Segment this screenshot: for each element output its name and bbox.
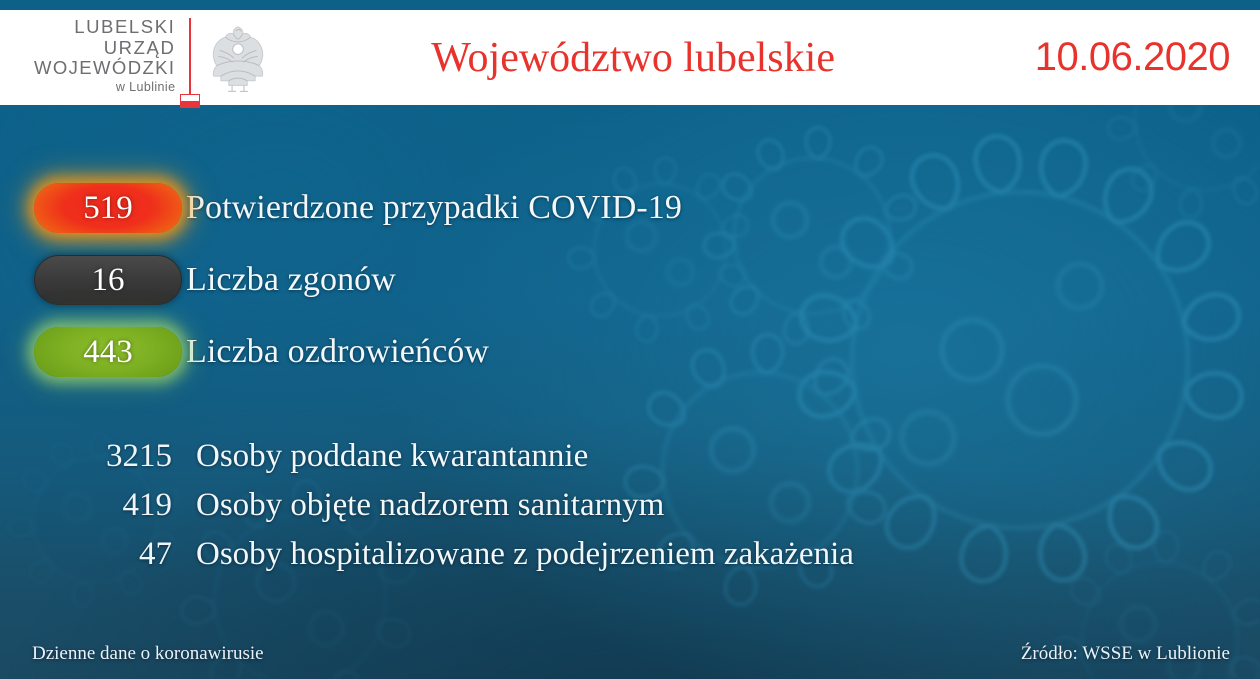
stat-row-recovered: 443 Liczba ozdrowieńców xyxy=(0,316,1260,388)
supervision-label: Osoby objęte nadzorem sanitarnym xyxy=(172,487,664,524)
logo-wordmark: LUBELSKI URZĄD WOJEWÓDZKI w Lublinie xyxy=(34,17,175,98)
substat-row-quarantine: 3215 Osoby poddane kwarantannie xyxy=(0,438,1260,487)
page-header: LUBELSKI URZĄD WOJEWÓDZKI w Lublinie xyxy=(0,10,1260,105)
footer-source: Źródło: WSSE w Lublionie xyxy=(1021,643,1230,665)
badge-container: 519 xyxy=(0,183,186,233)
supervision-value: 419 xyxy=(0,487,172,524)
footer-caption: Dzienne dane o koronawirusie xyxy=(32,643,264,665)
confirmed-cases-label: Potwierdzone przypadki COVID-19 xyxy=(186,189,682,227)
quarantine-label: Osoby poddane kwarantannie xyxy=(172,438,588,475)
badge-container: 16 xyxy=(0,255,186,305)
logo-divider-line xyxy=(189,18,191,98)
primary-statistics: 519 Potwierdzone przypadki COVID-19 16 L… xyxy=(0,172,1260,388)
logo-line-3: WOJEWÓDZKI xyxy=(34,58,175,79)
polish-flag-icon xyxy=(180,94,200,108)
quarantine-value: 3215 xyxy=(0,438,172,475)
hospitalized-label: Osoby hospitalizowane z podejrzeniem zak… xyxy=(172,536,854,573)
recovered-badge: 443 xyxy=(34,327,182,377)
infographic-page: LUBELSKI URZĄD WOJEWÓDZKI w Lublinie xyxy=(0,0,1260,679)
report-date: 10.06.2020 xyxy=(1035,35,1260,80)
stat-row-deaths: 16 Liczba zgonów xyxy=(0,244,1260,316)
substat-row-supervision: 419 Osoby objęte nadzorem sanitarnym xyxy=(0,487,1260,536)
top-accent-strip xyxy=(0,0,1260,10)
hospitalized-value: 47 xyxy=(0,536,172,573)
logo-line-1: LUBELSKI xyxy=(34,17,175,38)
logo-line-4: w Lublinie xyxy=(34,80,175,94)
logo-line-2: URZĄD xyxy=(34,38,175,59)
substat-row-hospitalized: 47 Osoby hospitalizowane z podejrzeniem … xyxy=(0,536,1260,585)
recovered-label: Liczba ozdrowieńców xyxy=(186,333,489,371)
stat-row-confirmed: 519 Potwierdzone przypadki COVID-19 xyxy=(0,172,1260,244)
page-title: Województwo lubelskie xyxy=(231,34,1034,82)
confirmed-cases-badge: 519 xyxy=(34,183,182,233)
deaths-label: Liczba zgonów xyxy=(186,261,396,299)
deaths-badge: 16 xyxy=(34,255,182,305)
badge-container: 443 xyxy=(0,327,186,377)
page-footer: Dzienne dane o koronawirusie Źródło: WSS… xyxy=(0,643,1260,665)
secondary-statistics: 3215 Osoby poddane kwarantannie 419 Osob… xyxy=(0,438,1260,585)
